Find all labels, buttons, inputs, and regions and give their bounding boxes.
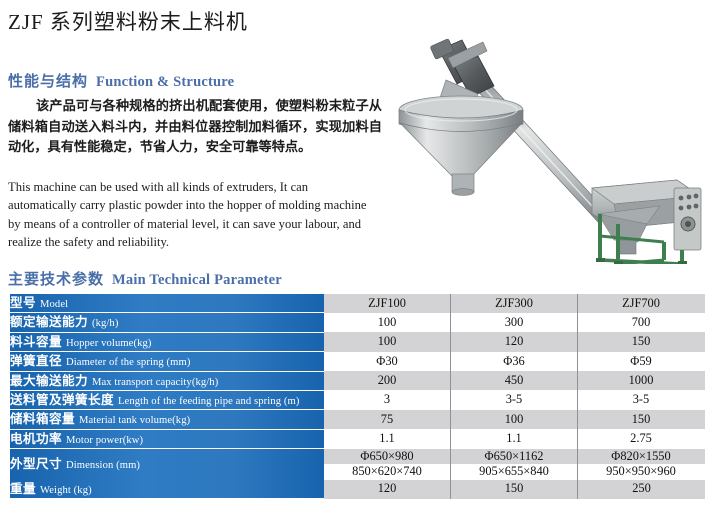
cell-value: Φ36 — [451, 352, 578, 371]
feeder-machine-illustration — [382, 28, 704, 264]
section-heading-parameters: 主要技术参数Main Technical Parameter — [8, 268, 282, 289]
cell-value: 1.1 — [324, 429, 451, 448]
row-label-cn: 重量 — [10, 482, 36, 496]
table-row: 送料管及弹簧长度Length of the feeding pipe and s… — [9, 390, 705, 409]
cell-value: 300 — [451, 313, 578, 332]
row-label-cn: 料斗容量 — [10, 335, 62, 349]
row-label-cn: 储料箱容量 — [10, 412, 75, 426]
column-header-2: ZJF300 — [451, 294, 578, 313]
section-heading-function: 性能与结构Function & Structure — [8, 70, 234, 91]
cell-value: 150 — [578, 410, 706, 429]
cell-value: Φ650×980 — [324, 449, 451, 465]
table-row: 重量Weight (kg) 120 150 250 — [9, 480, 705, 499]
table-row: 最大输送能力Max transport capacity(kg/h) 200 4… — [9, 371, 705, 390]
cell-value: 3-5 — [578, 390, 706, 409]
row-label-en: Material tank volume(kg) — [79, 415, 190, 426]
product-photo — [382, 28, 704, 264]
row-label-model-en: Model — [40, 299, 68, 310]
cell-value: 120 — [451, 332, 578, 351]
row-label-model-cn: 型号 — [10, 296, 36, 310]
cell-value: 3-5 — [451, 390, 578, 409]
row-label-cn: 电机功率 — [10, 432, 62, 446]
column-header-1: ZJF100 — [324, 294, 451, 313]
section-heading-function-cn: 性能与结构 — [8, 73, 88, 90]
row-label-en: Hopper volume(kg) — [66, 338, 152, 349]
specification-table: 型号Model ZJF100 ZJF300 ZJF700 额定输送能力(kg/h… — [8, 294, 706, 499]
section-heading-parameters-en: Main Technical Parameter — [112, 272, 282, 288]
control-panel — [674, 188, 701, 250]
cell-value: 120 — [324, 480, 451, 499]
cell-value: 850×620×740 — [324, 464, 451, 480]
table-row: 弹簧直径Diameter of the spring (mm) Φ30 Φ36 … — [9, 352, 705, 371]
cell-value: 450 — [451, 371, 578, 390]
row-label-motor-power: 电机功率Motor power(kw) — [9, 429, 324, 448]
row-label-en: Weight (kg) — [40, 485, 92, 496]
upper-hopper — [399, 96, 523, 195]
row-label-cn: 外型尺寸 — [10, 457, 62, 471]
row-label-en: Length of the feeding pipe and spring (m… — [118, 396, 300, 407]
cell-value: 2.75 — [578, 429, 706, 448]
cell-value: 100 — [324, 332, 451, 351]
function-paragraph-en: This machine can be used with all kinds … — [8, 178, 374, 252]
cell-value: 3 — [324, 390, 451, 409]
row-label-model: 型号Model — [9, 294, 324, 313]
row-label-en: Max transport capacity(kg/h) — [92, 377, 218, 388]
cell-value: 250 — [578, 480, 706, 499]
table-header-row: 型号Model ZJF100 ZJF300 ZJF700 — [9, 294, 705, 313]
product-spec-page: ZJF 系列塑料粉末上料机 性能与结构Function & Structure … — [0, 0, 708, 506]
cell-value: 75 — [324, 410, 451, 429]
cell-value: 150 — [451, 480, 578, 499]
cell-value: 1000 — [578, 371, 706, 390]
cell-value: 905×655×840 — [451, 464, 578, 480]
cell-value: Φ820×1550 — [578, 449, 706, 465]
cell-value: Φ59 — [578, 352, 706, 371]
row-label-cn: 弹簧直径 — [10, 354, 62, 368]
table-row-dimension-line1: 外型尺寸Dimension (mm) Φ650×980 Φ650×1162 Φ8… — [9, 449, 705, 465]
cell-value: Φ650×1162 — [451, 449, 578, 465]
cell-value: 100 — [324, 313, 451, 332]
table-row: 储料箱容量Material tank volume(kg) 75 100 150 — [9, 410, 705, 429]
table-row: 料斗容量Hopper volume(kg) 100 120 150 — [9, 332, 705, 351]
cell-value: 200 — [324, 371, 451, 390]
row-label-cn: 最大输送能力 — [10, 374, 88, 388]
column-header-3: ZJF700 — [578, 294, 706, 313]
row-label-en: Diameter of the spring (mm) — [66, 357, 191, 368]
cell-value: 150 — [578, 332, 706, 351]
table-row: 电机功率Motor power(kw) 1.1 1.1 2.75 — [9, 429, 705, 448]
section-heading-parameters-cn: 主要技术参数 — [8, 271, 104, 288]
cell-value: 1.1 — [451, 429, 578, 448]
row-label-hopper-volume: 料斗容量Hopper volume(kg) — [9, 332, 324, 351]
row-label-cn: 额定输送能力 — [10, 315, 88, 329]
cell-value: 100 — [451, 410, 578, 429]
page-title: ZJF 系列塑料粉末上料机 — [8, 6, 248, 36]
row-label-max-capacity: 最大输送能力Max transport capacity(kg/h) — [9, 371, 324, 390]
cell-value: Φ30 — [324, 352, 451, 371]
cell-value: 700 — [578, 313, 706, 332]
cell-value: 950×950×960 — [578, 464, 706, 480]
row-label-weight: 重量Weight (kg) — [9, 480, 324, 499]
row-label-cn: 送料管及弹簧长度 — [10, 393, 114, 407]
row-label-dimension: 外型尺寸Dimension (mm) — [9, 449, 324, 480]
section-heading-function-en: Function & Structure — [96, 74, 234, 90]
row-label-en: Dimension (mm) — [66, 460, 140, 471]
table-row: 额定输送能力(kg/h) 100 300 700 — [9, 313, 705, 332]
row-label-spring-diameter: 弹簧直径Diameter of the spring (mm) — [9, 352, 324, 371]
row-label-pipe-spring-length: 送料管及弹簧长度Length of the feeding pipe and s… — [9, 390, 324, 409]
row-label-rated-capacity: 额定输送能力(kg/h) — [9, 313, 324, 332]
row-label-en: (kg/h) — [92, 318, 119, 329]
row-label-en: Motor power(kw) — [66, 435, 143, 446]
row-label-tank-volume: 储料箱容量Material tank volume(kg) — [9, 410, 324, 429]
function-paragraph-cn: 该产品可与各种规格的挤出机配套使用，使塑料粉末粒子从储料箱自动送入料斗内，并由料… — [8, 96, 382, 158]
